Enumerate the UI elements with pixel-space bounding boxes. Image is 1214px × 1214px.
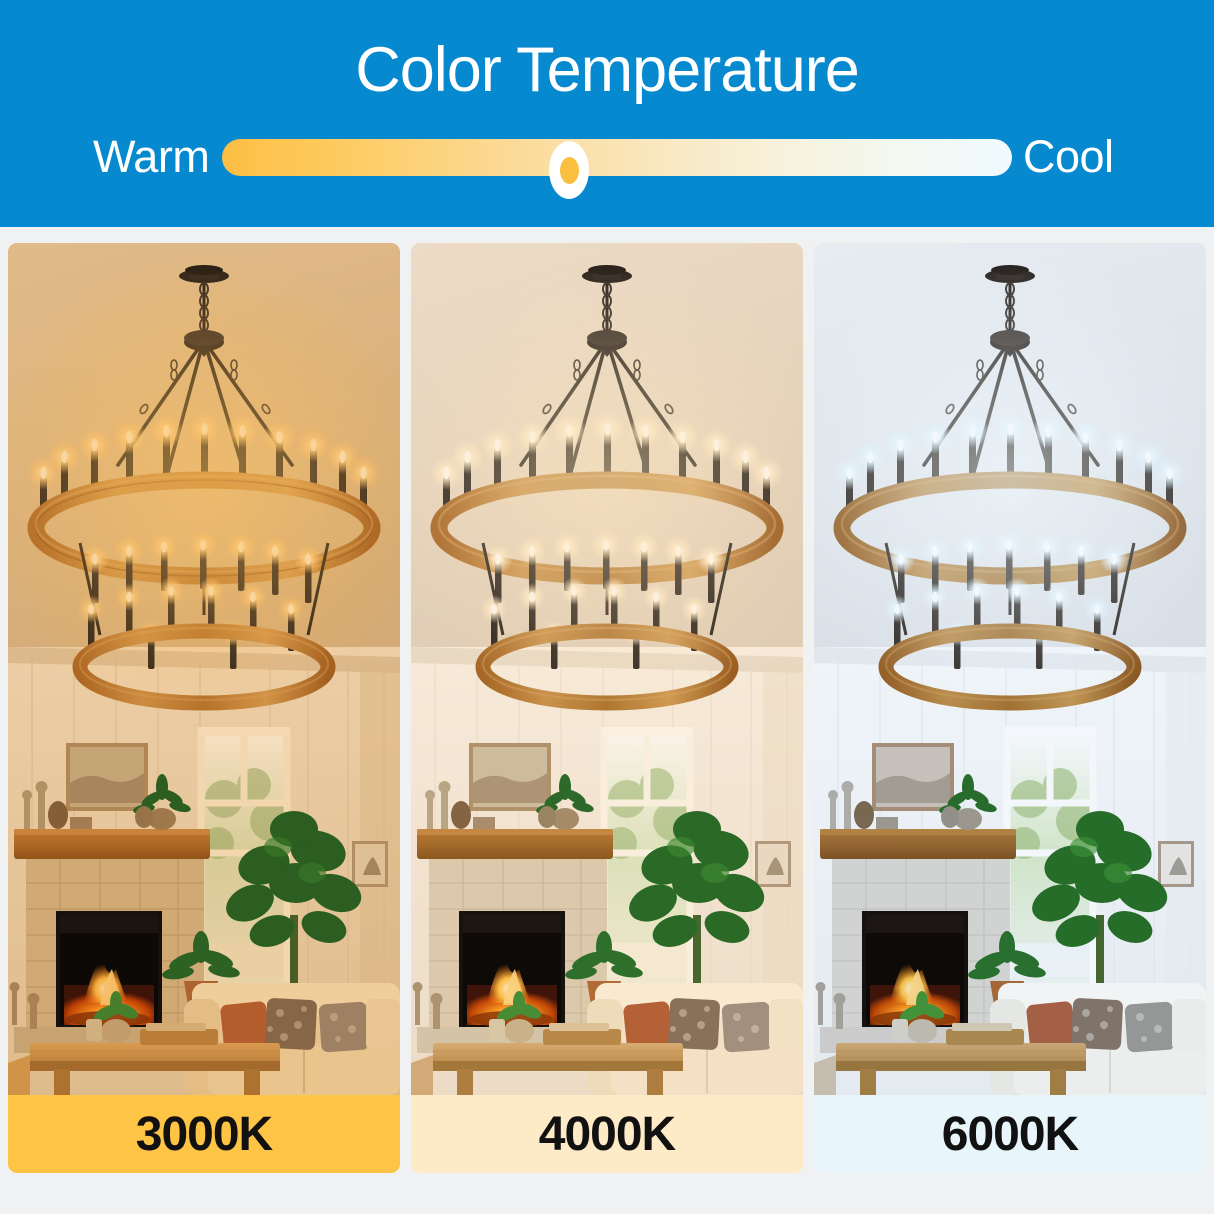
comparison-panel-group: 3000K [0, 243, 1214, 1173]
temperature-label-4000k: 4000K [411, 1095, 803, 1173]
temperature-label-3000k: 3000K [8, 1095, 400, 1173]
comparison-panel-4000k[interactable]: 4000K [411, 243, 803, 1173]
color-temperature-slider-track[interactable] [222, 139, 1012, 176]
comparison-panel-6000k[interactable]: 6000K [814, 243, 1206, 1173]
header-banner: Color Temperature Warm Cool [0, 0, 1214, 227]
slider-warm-label: Warm [93, 126, 209, 188]
comparison-panel-3000k[interactable]: 3000K [8, 243, 400, 1173]
page-title: Color Temperature [0, 34, 1214, 106]
slider-thumb-handle[interactable] [549, 141, 589, 199]
slider-cool-label: Cool [1023, 126, 1114, 188]
room-scene-3000k [8, 243, 400, 1095]
room-scene-4000k [411, 243, 803, 1095]
color-temperature-slider-row: Warm Cool [0, 126, 1214, 188]
room-scene-6000k [814, 243, 1206, 1095]
temperature-label-6000k: 6000K [814, 1095, 1206, 1173]
